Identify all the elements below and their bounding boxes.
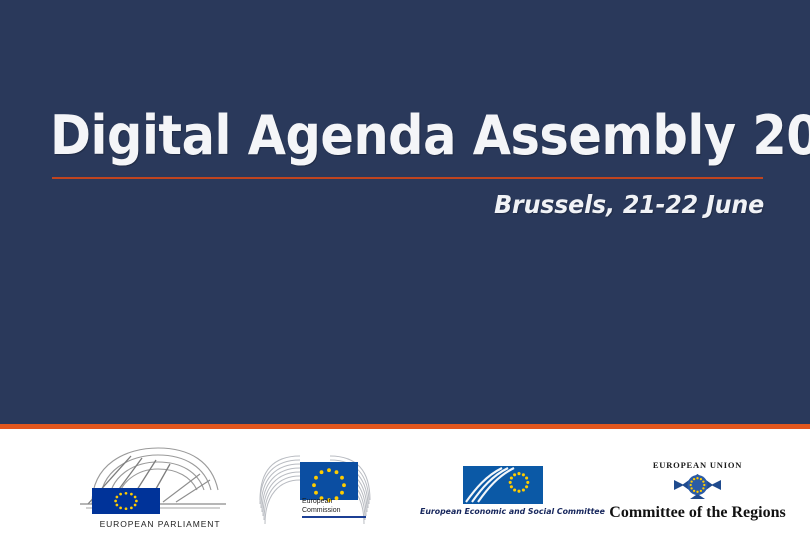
logo-cor-caption: Committee of the Regions <box>600 504 795 522</box>
logo-ep-caption: EUROPEAN PARLIAMENT <box>85 519 235 529</box>
logo-european-parliament: EUROPEAN PARLIAMENT <box>30 442 250 532</box>
title-underline <box>52 177 763 179</box>
logo-ec-caption-line1: European <box>302 498 341 507</box>
subtitle: Brussels, 21-22 June <box>86 190 764 219</box>
page-title: Digital Agenda Assembly 2012 <box>50 104 703 168</box>
logo-eesc: European Economic and Social Committee <box>420 464 585 526</box>
logo-committee-of-the-regions: EUROPEAN UNION <box>600 460 795 532</box>
logo-european-commission: European Commission <box>258 454 388 532</box>
eesc-icon <box>420 464 585 526</box>
european-commission-icon <box>258 454 388 532</box>
logo-ec-caption-line2: Commission <box>302 507 341 516</box>
logo-eesc-caption: European Economic and Social Committee <box>420 507 585 516</box>
logo-strip: EUROPEAN PARLIAMENT <box>0 432 810 540</box>
presentation-slide: Digital Agenda Assembly 2012 Brussels, 2… <box>0 0 810 540</box>
logo-ec-caption: European Commission <box>302 498 341 515</box>
logo-ec-underline <box>302 516 366 518</box>
title-block: Digital Agenda Assembly 2012 <box>50 104 764 168</box>
